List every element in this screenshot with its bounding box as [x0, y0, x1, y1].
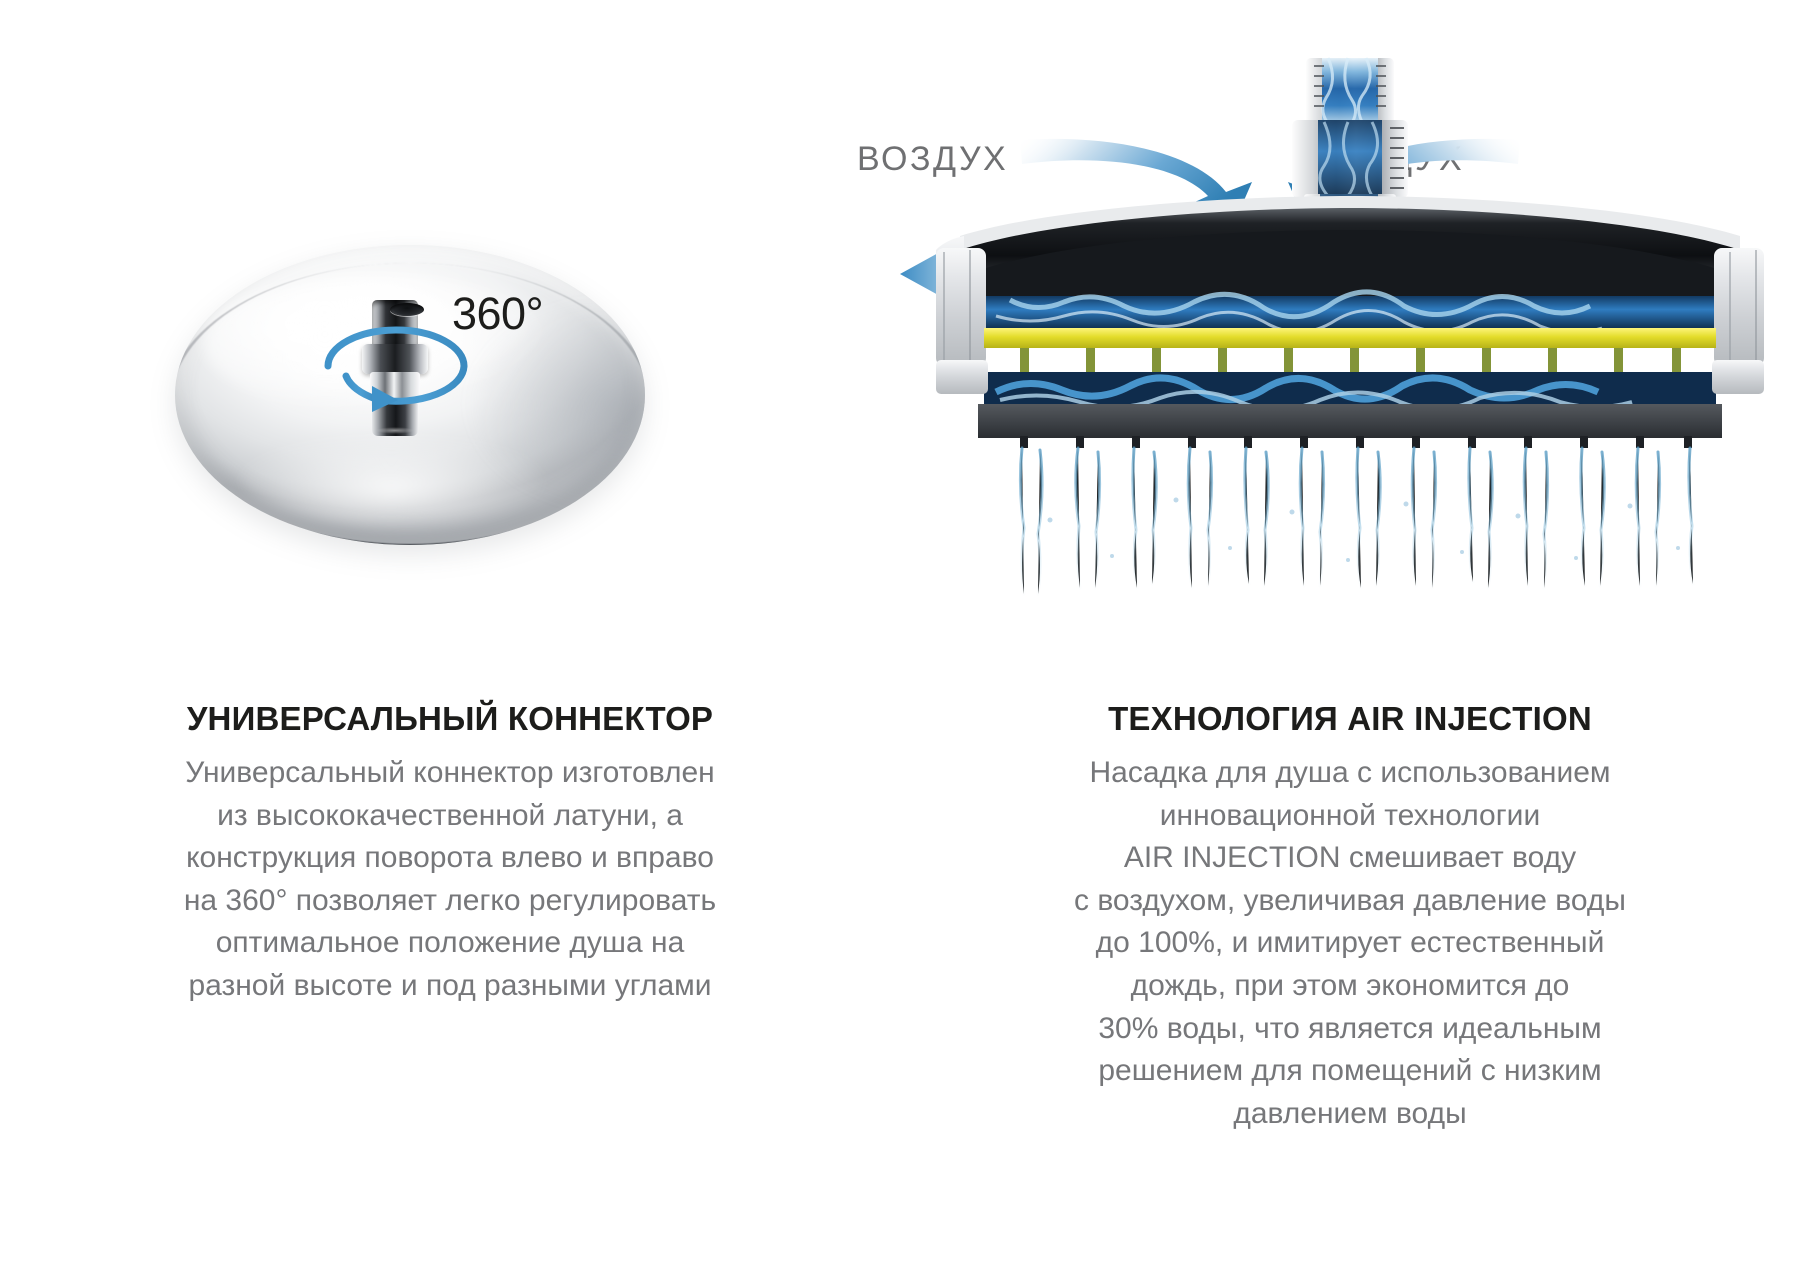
- connector-shaft: [370, 372, 420, 406]
- desc-line: решением для помещений с низким: [1010, 1050, 1690, 1093]
- desc-line: конструкция поворота влево и вправо: [110, 837, 790, 880]
- text-block-air-injection: ТЕХНОЛОГИЯ AIR INJECTION Насадка для душ…: [900, 700, 1800, 1135]
- connector-bore: [390, 303, 424, 316]
- connector-socket: [372, 300, 418, 348]
- panel-air-injection: ВОЗДУХ ВОЗДУХ: [900, 0, 1800, 1269]
- desc-line: Насадка для душа с использованием: [1010, 752, 1690, 795]
- figure-universal-connector: 360°: [0, 0, 900, 620]
- desc-line: инновационной технологии: [1010, 795, 1690, 838]
- feature-description-universal-connector: Универсальный коннектор изготовлен из вы…: [110, 752, 790, 1008]
- desc-line: 30% воды, что является идеальным: [1010, 1008, 1690, 1051]
- desc-line: оптимальное положение душа на: [110, 922, 790, 965]
- desc-line: разной высоте и под разными углами: [110, 965, 790, 1008]
- desc-line: AIR INJECTION смешивает воду: [1010, 837, 1690, 880]
- desc-line: на 360° позволяет легко регулировать: [110, 880, 790, 923]
- feature-comparison-page: 360° УНИВЕРСАЛЬНЫЙ КОННЕКТОР Универсальн…: [0, 0, 1800, 1269]
- desc-line: дождь, при этом экономится до: [1010, 965, 1690, 1008]
- desc-line: с воздухом, увеличивая давление воды: [1010, 880, 1690, 923]
- feature-title-universal-connector: УНИВЕРСАЛЬНЫЙ КОННЕКТОР: [110, 700, 790, 738]
- swivel-connector: [360, 300, 430, 450]
- text-block-universal-connector: УНИВЕРСАЛЬНЫЙ КОННЕКТОР Универсальный ко…: [0, 700, 900, 1008]
- desc-line: до 100%, и имитирует естественный: [1010, 922, 1690, 965]
- figure-air-injection: ВОЗДУХ ВОЗДУХ: [900, 0, 1800, 620]
- panel-universal-connector: 360° УНИВЕРСАЛЬНЫЙ КОННЕКТОР Универсальн…: [0, 0, 900, 1269]
- desc-line: Универсальный коннектор изготовлен: [110, 752, 790, 795]
- desc-line: давлением воды: [1010, 1093, 1690, 1136]
- rotation-degree-label: 360°: [452, 288, 543, 340]
- desc-line: из высококачественной латуни, а: [110, 795, 790, 838]
- shower-head-cutaway-image: [900, 0, 1800, 620]
- connector-collar: [362, 344, 428, 374]
- feature-description-air-injection: Насадка для душа с использованием иннова…: [1010, 752, 1690, 1135]
- feature-title-air-injection: ТЕХНОЛОГИЯ AIR INJECTION: [1010, 700, 1690, 738]
- connector-nut: [372, 402, 418, 436]
